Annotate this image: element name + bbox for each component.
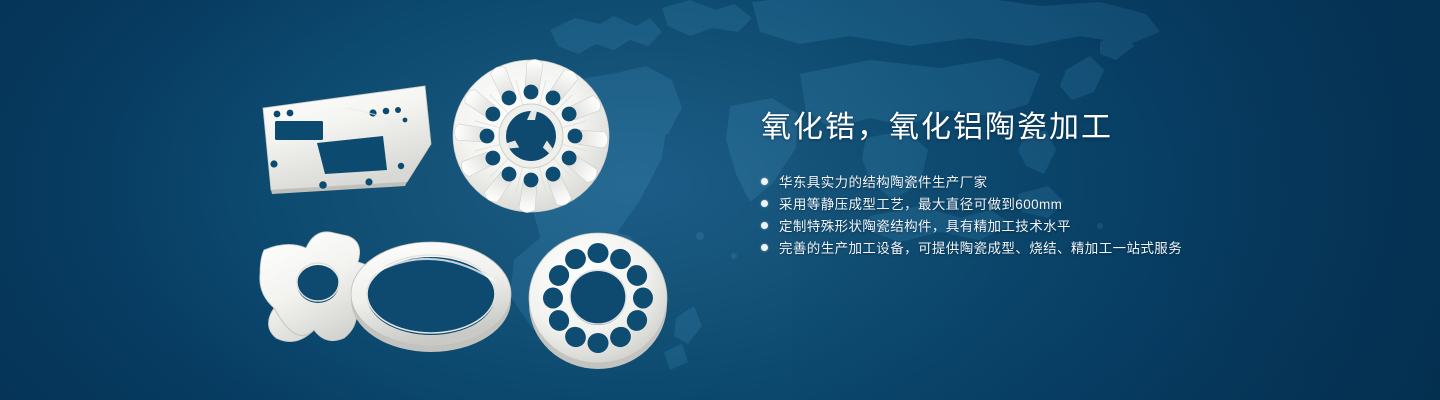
feature-text: 定制特殊形状陶瓷结构件，具有精加工技术水平 xyxy=(779,215,1071,235)
bullet-dot-icon xyxy=(761,244,768,251)
feature-text: 采用等静压成型工艺，最大直径可做到600mm xyxy=(779,193,1062,213)
bullet-dot-icon xyxy=(761,200,768,207)
feature-text: 华东具实力的结构陶瓷件生产厂家 xyxy=(779,171,988,191)
banner-title: 氧化锆，氧化铝陶瓷加工 xyxy=(761,108,1321,148)
bullet-dot-icon xyxy=(761,178,768,185)
ceramic-plate-with-cutouts-image xyxy=(255,78,435,198)
hero-banner: 氧化锆，氧化铝陶瓷加工 华东具实力的结构陶瓷件生产厂家 采用等静压成型工艺，最大… xyxy=(0,0,1440,400)
banner-text-column: 氧化锆，氧化铝陶瓷加工 华东具实力的结构陶瓷件生产厂家 采用等静压成型工艺，最大… xyxy=(761,108,1321,258)
feature-text: 完善的生产加工设备，可提供陶瓷成型、烧结、精加工一站式服务 xyxy=(779,237,1182,257)
list-item: 采用等静压成型工艺，最大直径可做到600mm xyxy=(761,192,1321,214)
list-item: 定制特殊形状陶瓷结构件，具有精加工技术水平 xyxy=(761,214,1321,236)
list-item: 完善的生产加工设备，可提供陶瓷成型、烧结、精加工一站式服务 xyxy=(761,236,1321,258)
feature-list: 华东具实力的结构陶瓷件生产厂家 采用等静压成型工艺，最大直径可做到600mm 定… xyxy=(761,170,1321,258)
ceramic-impeller-disc-image xyxy=(443,48,621,223)
list-item: 华东具实力的结构陶瓷件生产厂家 xyxy=(761,170,1321,192)
bullet-dot-icon xyxy=(761,222,768,229)
ceramic-ring-image xyxy=(335,228,520,358)
ceramic-flange-disc-image xyxy=(518,226,678,371)
